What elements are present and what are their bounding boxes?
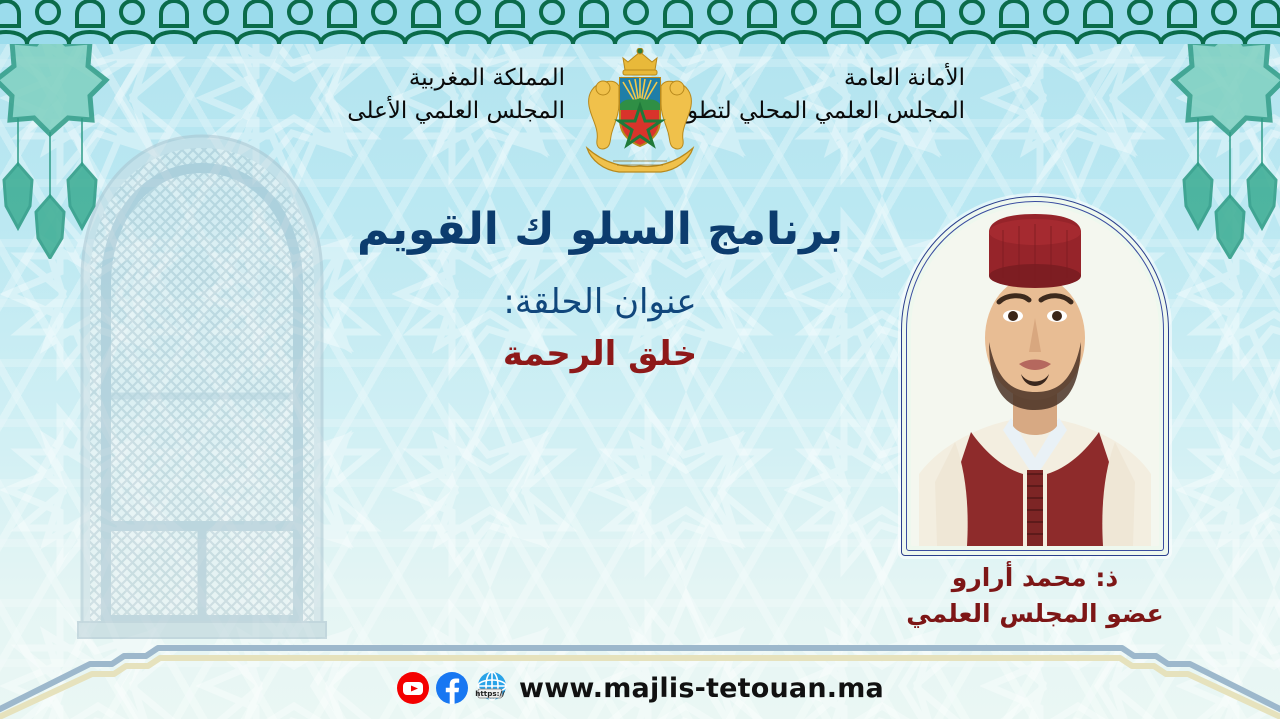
youtube-icon[interactable] xyxy=(396,671,430,705)
moroccan-coat-of-arms-icon xyxy=(565,48,715,173)
header-right-line2: المجلس العلمي الأعلى xyxy=(315,95,565,128)
title-block: برنامج السلو ك القويم عنوان الحلقة: خلق … xyxy=(300,205,900,375)
https-label: https:// xyxy=(475,689,505,698)
speaker-role: عضو المجلس العلمي xyxy=(880,596,1190,632)
speaker-photo xyxy=(901,196,1169,556)
slide-root: الأمانة العامة المجلس العلمي المحلي لتطو… xyxy=(0,0,1280,719)
header-left-line1: الأمانة العامة xyxy=(715,62,965,95)
top-ornamental-border xyxy=(0,0,1280,44)
episode-title: خلق الرحمة xyxy=(300,334,900,375)
footer-band: https:// www.majlis-tetouan.ma xyxy=(0,657,1280,719)
mashrabiya-window xyxy=(72,128,332,648)
header-right-text: المملكة المغربية المجلس العلمي الأعلى xyxy=(315,48,565,127)
facebook-icon[interactable] xyxy=(435,671,469,705)
speaker-name: ذ: محمد أرارو xyxy=(880,560,1190,596)
episode-label: عنوان الحلقة: xyxy=(300,282,900,323)
program-title: برنامج السلو ك القويم xyxy=(300,205,900,256)
header-left-text: الأمانة العامة المجلس العلمي المحلي لتطو… xyxy=(715,48,965,127)
website-url[interactable]: www.majlis-tetouan.ma xyxy=(519,673,884,704)
header-left-line2: المجلس العلمي المحلي لتطوان xyxy=(715,95,965,128)
header-right-line1: المملكة المغربية xyxy=(315,62,565,95)
social-links: https:// xyxy=(396,671,510,705)
speaker-caption: ذ: محمد أرارو عضو المجلس العلمي xyxy=(880,560,1190,633)
photo-image xyxy=(911,206,1159,546)
speaker-portrait-illustration xyxy=(911,206,1159,546)
header: الأمانة العامة المجلس العلمي المحلي لتطو… xyxy=(0,48,1280,173)
website-globe-icon[interactable]: https:// xyxy=(474,671,510,705)
